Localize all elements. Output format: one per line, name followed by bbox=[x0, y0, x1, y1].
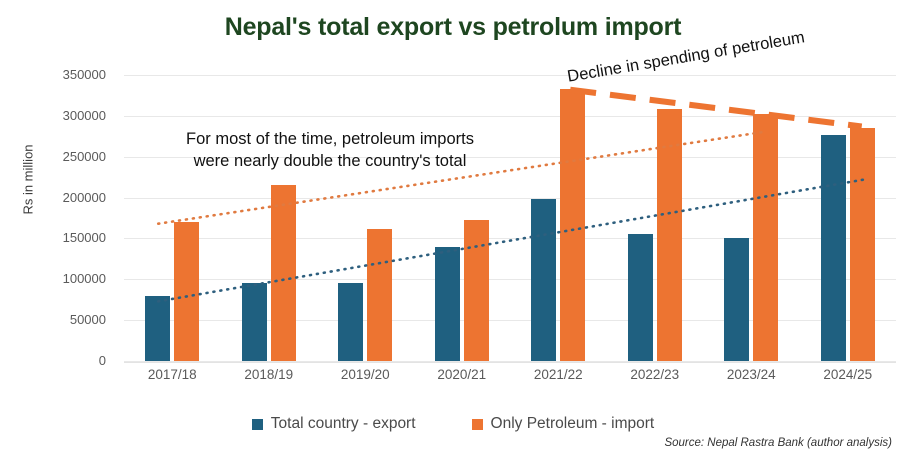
bar-import-2017-18 bbox=[174, 222, 199, 361]
annotation-double-imports-line2: were nearly double the country's total bbox=[152, 150, 508, 172]
bar-export-2023-24 bbox=[724, 238, 749, 361]
y-axis-tick-label: 100000 bbox=[0, 271, 106, 286]
legend-swatch-icon bbox=[252, 419, 263, 430]
gridline bbox=[124, 279, 896, 280]
bar-import-2022-23 bbox=[657, 109, 682, 361]
source-note: Source: Nepal Rastra Bank (author analys… bbox=[664, 437, 892, 449]
gridline bbox=[124, 320, 896, 321]
x-axis-tick-label: 2024/25 bbox=[788, 367, 906, 382]
legend-item-export[interactable]: Total country - export bbox=[252, 415, 416, 433]
gridline bbox=[124, 75, 896, 76]
y-axis-tick-label: 350000 bbox=[0, 67, 106, 82]
bar-export-2019-20 bbox=[338, 283, 363, 361]
legend-item-import[interactable]: Only Petroleum - import bbox=[472, 415, 655, 433]
y-axis-tick-label: 200000 bbox=[0, 190, 106, 205]
bar-import-2019-20 bbox=[367, 229, 392, 361]
gridline bbox=[124, 238, 896, 239]
legend-swatch-icon bbox=[472, 419, 483, 430]
chart-legend: Total country - exportOnly Petroleum - i… bbox=[0, 415, 906, 433]
gridline bbox=[124, 198, 896, 199]
bar-export-2022-23 bbox=[628, 234, 653, 361]
legend-label: Only Petroleum - import bbox=[491, 415, 655, 433]
bar-export-2017-18 bbox=[145, 296, 170, 361]
bar-export-2020-21 bbox=[435, 247, 460, 361]
bar-import-2018-19 bbox=[271, 185, 296, 361]
gridline bbox=[124, 361, 896, 362]
bar-import-2023-24 bbox=[753, 114, 778, 361]
legend-label: Total country - export bbox=[271, 415, 416, 433]
bar-import-2021-22 bbox=[560, 89, 585, 361]
chart-container: Nepal's total export vs petrolum import … bbox=[0, 0, 906, 460]
y-axis-tick-label: 0 bbox=[0, 353, 106, 368]
bar-export-2018-19 bbox=[242, 283, 267, 361]
bar-import-2020-21 bbox=[464, 220, 489, 361]
plot-area: 0500001000001500002000002500003000003500… bbox=[124, 75, 896, 361]
bar-export-2024-25 bbox=[821, 135, 846, 361]
y-axis-tick-label: 250000 bbox=[0, 149, 106, 164]
bar-import-2024-25 bbox=[850, 128, 875, 361]
gridline bbox=[124, 116, 896, 117]
annotation-double-imports: For most of the time, petroleum imports … bbox=[152, 128, 508, 173]
y-axis-tick-label: 50000 bbox=[0, 312, 106, 327]
annotation-double-imports-line1: For most of the time, petroleum imports bbox=[152, 128, 508, 150]
y-axis-tick-label: 300000 bbox=[0, 108, 106, 123]
bar-export-2021-22 bbox=[531, 199, 556, 361]
y-axis-tick-label: 150000 bbox=[0, 230, 106, 245]
